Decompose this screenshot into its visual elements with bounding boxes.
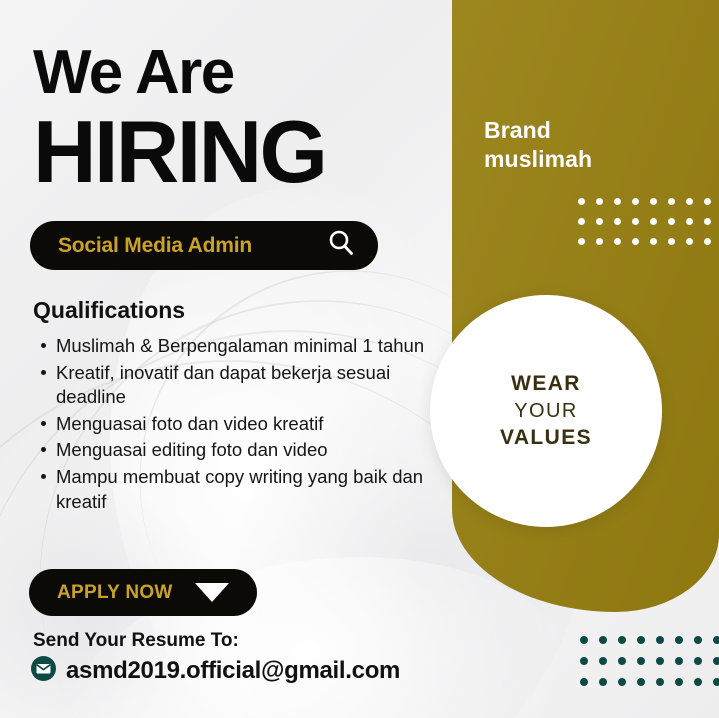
dot xyxy=(599,657,607,665)
dot xyxy=(656,657,664,665)
dot xyxy=(637,636,645,644)
dot xyxy=(668,198,675,205)
values-line-1: WEAR xyxy=(511,370,581,398)
search-icon[interactable] xyxy=(326,228,356,263)
hiring-poster: Brand muslimah WEAR YOUR VALUES We Are H… xyxy=(0,0,719,718)
dot xyxy=(713,636,719,644)
dot xyxy=(650,218,657,225)
dot xyxy=(713,678,719,686)
dot xyxy=(632,238,639,245)
values-line-3: VALUES xyxy=(500,424,592,452)
qualifications-list: Muslimah & Berpengalaman minimal 1 tahun… xyxy=(36,334,426,516)
values-badge: WEAR YOUR VALUES xyxy=(430,295,662,527)
dot xyxy=(668,218,675,225)
apply-now-button[interactable]: APPLY NOW xyxy=(29,569,257,616)
qualifications-heading: Qualifications xyxy=(33,297,185,324)
dot xyxy=(618,657,626,665)
dot-grid-teal xyxy=(580,636,719,699)
dot xyxy=(596,198,603,205)
resume-instruction: Send Your Resume To: xyxy=(33,630,239,652)
brand-line-1: Brand xyxy=(484,116,592,145)
dot xyxy=(686,198,693,205)
dot xyxy=(668,238,675,245)
caret-down-icon xyxy=(195,583,229,602)
dot xyxy=(580,678,588,686)
dot xyxy=(580,657,588,665)
dot xyxy=(596,238,603,245)
dot xyxy=(599,678,607,686)
dot xyxy=(694,657,702,665)
list-item: Menguasai foto dan video kreatif xyxy=(56,412,426,437)
brand-line-2: muslimah xyxy=(484,145,592,174)
values-line-2: YOUR xyxy=(514,398,577,424)
dot xyxy=(675,657,683,665)
dot xyxy=(656,678,664,686)
dot xyxy=(614,238,621,245)
list-item: Kreatif, inovatif dan dapat bekerja sesu… xyxy=(56,361,426,410)
list-item: Muslimah & Berpengalaman minimal 1 tahun xyxy=(56,334,426,359)
dot xyxy=(704,218,711,225)
email-contact[interactable]: asmd2019.official@gmail.com xyxy=(30,655,400,687)
dot xyxy=(578,218,585,225)
list-item: Mampu membuat copy writing yang baik dan… xyxy=(56,465,426,514)
dot xyxy=(578,198,585,205)
dot xyxy=(637,678,645,686)
page-title-line-2: HIRING xyxy=(33,108,325,196)
dot xyxy=(578,238,585,245)
dot xyxy=(713,657,719,665)
dot xyxy=(694,636,702,644)
dot xyxy=(650,238,657,245)
email-address: asmd2019.official@gmail.com xyxy=(66,657,400,685)
dot xyxy=(614,198,621,205)
dot xyxy=(580,636,588,644)
dot xyxy=(596,218,603,225)
dot xyxy=(618,636,626,644)
dot xyxy=(614,218,621,225)
apply-now-label: APPLY NOW xyxy=(57,582,173,604)
dot xyxy=(618,678,626,686)
dot xyxy=(675,678,683,686)
page-title-line-1: We Are xyxy=(33,42,234,104)
position-label: Social Media Admin xyxy=(58,234,252,258)
dot xyxy=(632,218,639,225)
dot xyxy=(632,198,639,205)
envelope-icon xyxy=(30,655,57,687)
dot xyxy=(704,238,711,245)
position-search-pill[interactable]: Social Media Admin xyxy=(30,221,378,270)
dot xyxy=(694,678,702,686)
dot xyxy=(686,218,693,225)
dot xyxy=(599,636,607,644)
brand-name: Brand muslimah xyxy=(484,116,592,174)
dot xyxy=(686,238,693,245)
dot xyxy=(656,636,664,644)
dot xyxy=(637,657,645,665)
dot xyxy=(704,198,711,205)
dot xyxy=(675,636,683,644)
list-item: Menguasai editing foto dan video xyxy=(56,438,426,463)
dot xyxy=(650,198,657,205)
dot-grid-white xyxy=(578,198,719,258)
